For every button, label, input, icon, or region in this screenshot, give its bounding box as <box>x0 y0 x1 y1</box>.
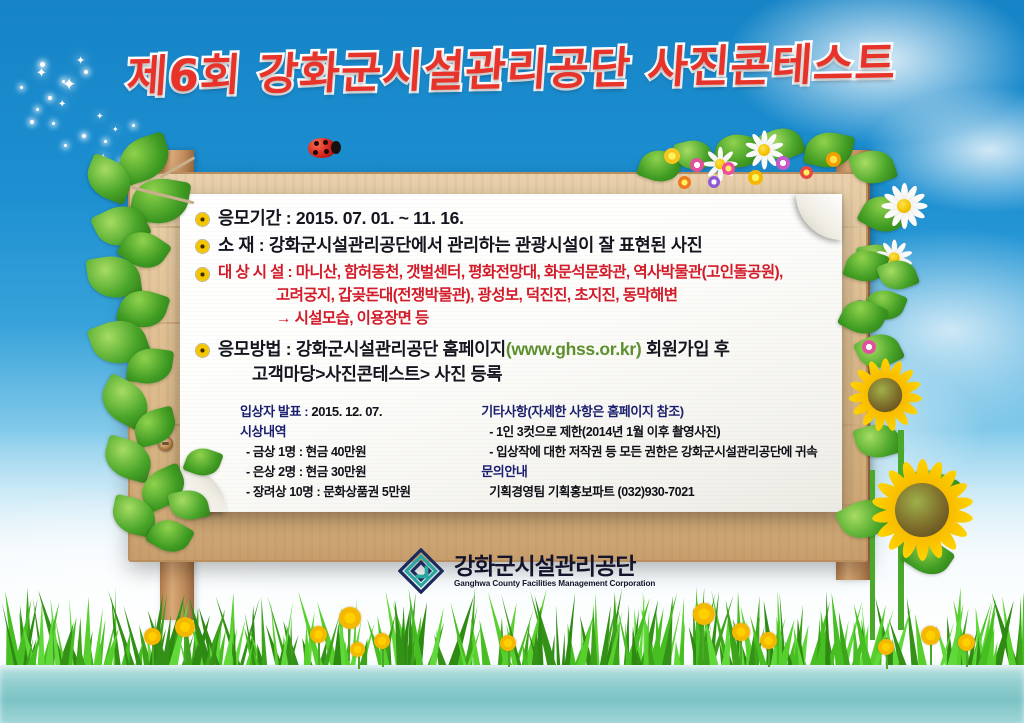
detail-row-apply: 응모방법 : 강화군시설관리공단 홈페이지(www.ghss.or.kr) 회원… <box>196 337 842 387</box>
poster-content: 응모기간 : 2015. 07. 01. ~ 11. 16. 소 재 : 강화군… <box>196 206 842 389</box>
dandelion-icon <box>144 628 161 645</box>
notes-heading: 기타사항(자세한 사항은 홈페이지 참조) <box>481 402 840 422</box>
apply-after-url: 회원가입 후 <box>641 339 729 359</box>
dandelion-icon <box>350 642 365 657</box>
dandelion-icon <box>921 626 940 645</box>
dandelion-icon <box>760 632 777 649</box>
award-item: - 은상 2명 : 현금 30만원 <box>240 462 457 482</box>
bullet-icon <box>196 268 209 281</box>
detail-value-facilities: 마니산, 함허동천, 갯벌센터, 평화전망대, 화문석문화관, 역사박물관(고인… <box>296 264 783 281</box>
apply-label: 응모방법 : <box>218 339 291 359</box>
dandelion-icon <box>878 639 894 655</box>
contact-line: 기획경영팀 기획홍보파트 (032)930-7021 <box>481 482 840 502</box>
award-item: - 금상 1명 : 현금 40만원 <box>240 442 457 462</box>
dandelion-icon <box>732 623 750 641</box>
dandelion-icon <box>500 635 516 651</box>
detail-value-subject: 강화군시설관리공단에서 관리하는 관광시설이 잘 표현된 사진 <box>269 235 703 255</box>
note-item: - 1인 3컷으로 제한(2014년 1월 이후 촬영사진) <box>481 422 840 442</box>
apply-line-2: 고객마당>사진콘테스트> 사진 등록 <box>218 362 842 387</box>
detail-label-period: 응모기간 : <box>218 208 291 228</box>
daisy-icon <box>876 178 932 234</box>
contact-heading: 문의안내 <box>481 462 840 482</box>
apply-before-url: 강화군시설관리공단 홈페이지 <box>296 339 506 359</box>
facility-line-3: → 시설모습, 이용장면 등 <box>218 307 842 330</box>
awards-heading: 시상내역 <box>240 422 457 442</box>
bullet-icon <box>196 344 209 357</box>
dandelion-icon <box>339 607 361 629</box>
detail-row-period: 응모기간 : 2015. 07. 01. ~ 11. 16. <box>196 206 842 231</box>
apply-url[interactable]: (www.ghss.or.kr) <box>506 339 642 359</box>
sunflower-icon <box>850 360 920 430</box>
awards-block: 입상자 발표 : 2015. 12. 07. 시상내역 - 금상 1명 : 현금… <box>240 402 457 502</box>
award-item: - 장려상 10명 : 문화상품권 5만원 <box>240 482 457 502</box>
logo-name-kr: 강화군시설관리공단 <box>454 554 655 578</box>
awards-announce-label: 입상자 발표 : <box>240 404 311 419</box>
notes-block: 기타사항(자세한 사항은 홈페이지 참조) - 1인 3컷으로 제한(2014년… <box>481 402 840 502</box>
detail-value-period: 2015. 07. 01. ~ 11. 16. <box>296 208 464 228</box>
bullet-icon <box>196 213 209 226</box>
sunflower-icon <box>862 450 982 570</box>
facility-line-2: 고려궁지, 갑곶돈대(전쟁박물관), 광성보, 덕진진, 초지진, 동막해변 <box>218 284 842 307</box>
detail-label-subject: 소 재 : <box>218 235 264 255</box>
dandelion-icon <box>693 603 715 625</box>
dandelion-icon <box>310 626 327 643</box>
detail-label-facilities: 대 상 시 설 : <box>218 264 292 281</box>
grass-blade <box>1017 597 1024 675</box>
detail-row-facilities: 대 상 시 설 : 마니산, 함허동천, 갯벌센터, 평화전망대, 화문석문화관… <box>196 261 842 330</box>
dandelion-icon <box>374 633 390 649</box>
awards-announce-row: 입상자 발표 : 2015. 12. 07. <box>240 402 457 422</box>
dandelion-icon <box>175 617 195 637</box>
dandelion-icon <box>958 634 975 651</box>
note-item: - 입상작에 대한 저작권 등 모든 권한은 강화군시설관리공단에 귀속 <box>481 442 840 462</box>
water-strip <box>0 665 1024 723</box>
bullet-icon <box>196 240 209 253</box>
lower-info-area: 입상자 발표 : 2015. 12. 07. 시상내역 - 금상 1명 : 현금… <box>240 402 840 502</box>
awards-announce-date: 2015. 12. 07. <box>311 404 382 419</box>
detail-row-subject: 소 재 : 강화군시설관리공단에서 관리하는 관광시설이 잘 표현된 사진 <box>196 233 842 258</box>
ladybug-icon <box>308 138 336 158</box>
